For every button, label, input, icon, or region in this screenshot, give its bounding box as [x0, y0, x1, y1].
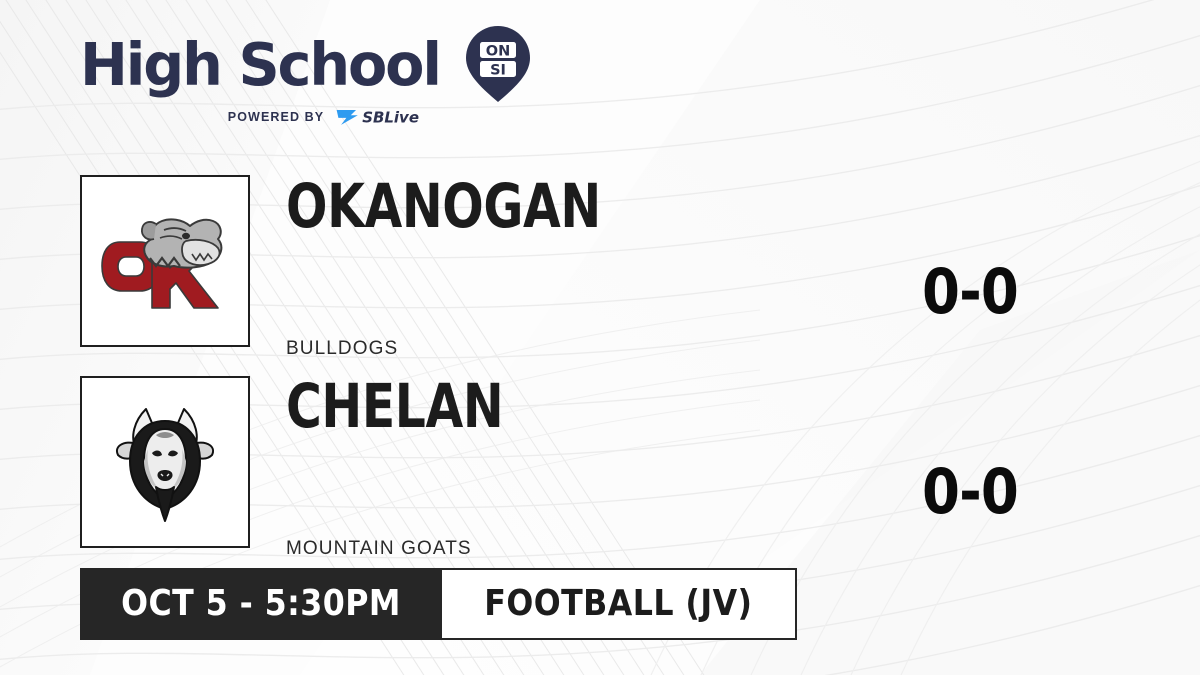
team-name-okanogan: OKANOGAN	[286, 176, 601, 237]
pin-badge-line-1: ON	[486, 43, 510, 59]
team-logo-box-okanogan	[80, 175, 250, 347]
on-si-pin-icon: ON SI	[465, 25, 531, 103]
brand-header: High School ON SI POWERED BY SBLive	[80, 28, 550, 138]
team-mascot-bulldogs: BULLDOGS	[286, 338, 398, 360]
team-logo-box-chelan	[80, 376, 250, 548]
sblive-wordmark: SBLive	[362, 108, 419, 126]
okanogan-bulldog-logo-icon	[90, 186, 240, 336]
brand-title: High School	[80, 35, 440, 94]
sblive-logo: SBLive	[334, 107, 438, 127]
pin-badge-line-2: SI	[490, 62, 506, 78]
sblive-bolt-icon	[337, 110, 358, 125]
event-info-bar: OCT 5 - 5:30PM FOOTBALL (JV)	[80, 568, 797, 640]
powered-by-row: POWERED BY SBLive	[80, 106, 550, 128]
event-sport-panel: FOOTBALL (JV)	[442, 568, 797, 640]
event-sport-label: FOOTBALL (JV)	[484, 586, 752, 622]
brand-title-row: High School ON SI	[80, 28, 550, 100]
powered-by-label: POWERED BY	[228, 110, 324, 124]
event-datetime-label: OCT 5 - 5:30PM	[121, 586, 401, 622]
event-datetime-panel: OCT 5 - 5:30PM	[80, 568, 442, 640]
team-name-chelan: CHELAN	[286, 376, 503, 437]
team-mascot-mountain-goats: MOUNTAIN GOATS	[286, 538, 472, 560]
team-record-okanogan: 0-0	[900, 261, 1041, 323]
team-record-chelan: 0-0	[900, 461, 1041, 523]
chelan-mountain-goat-logo-icon	[90, 387, 240, 537]
scoreboard-graphic: High School ON SI POWERED BY SBLive	[0, 0, 1200, 675]
